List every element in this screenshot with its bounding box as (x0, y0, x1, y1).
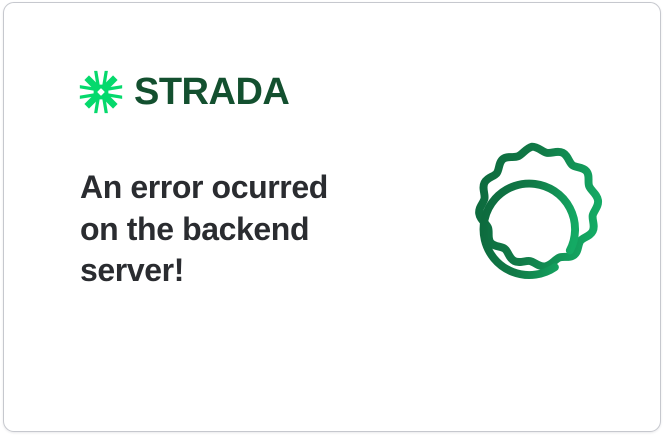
gear-cog-icon (444, 137, 620, 313)
brand-wordmark: STRADA (134, 73, 289, 111)
error-card: STRADA An error ocurred on the backend s… (3, 2, 661, 432)
strada-starburst-icon (78, 69, 124, 115)
brand-lockup: STRADA (78, 69, 289, 115)
error-message: An error ocurred on the backend server! (80, 167, 370, 292)
